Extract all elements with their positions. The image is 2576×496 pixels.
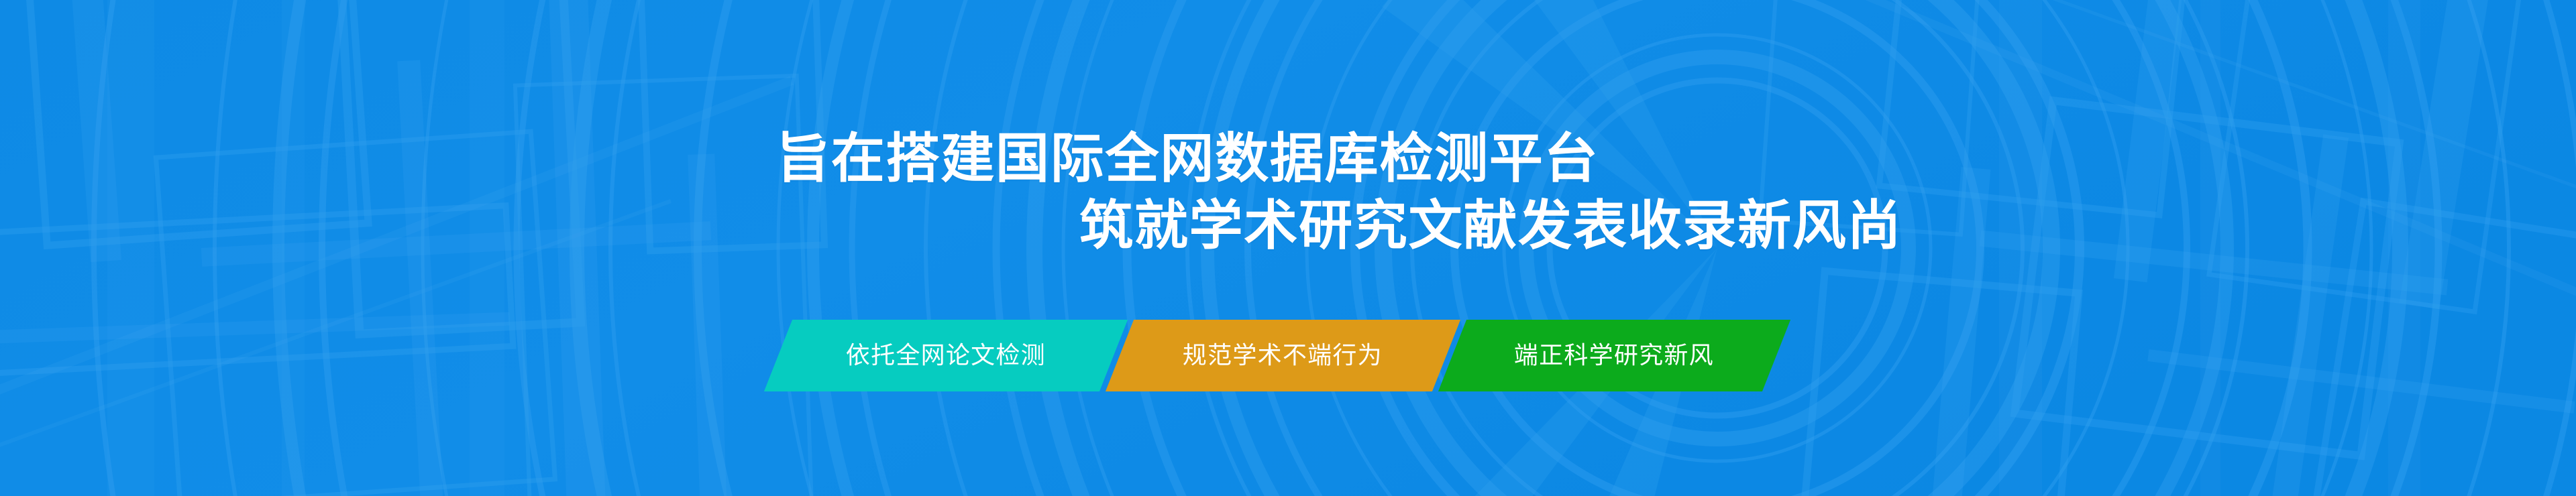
feature-tag-misconduct[interactable]: 规范学术不端行为	[1106, 320, 1460, 391]
feature-tag-detection[interactable]: 依托全网论文检测	[764, 320, 1128, 391]
background-pattern	[0, 0, 2576, 496]
feature-tag-label: 端正科学研究新风	[1514, 343, 1714, 369]
feature-tag-strip: 依托全网论文检测 规范学术不端行为 端正科学研究新风	[778, 320, 1776, 391]
feature-tag-label: 规范学术不端行为	[1183, 343, 1383, 369]
feature-tag-integrity[interactable]: 端正科学研究新风	[1438, 320, 1790, 391]
feature-tag-label: 依托全网论文检测	[846, 343, 1046, 369]
promo-banner: 旨在搭建国际全网数据库检测平台 筑就学术研究文献发表收录新风尚 依托全网论文检测…	[0, 0, 2576, 496]
